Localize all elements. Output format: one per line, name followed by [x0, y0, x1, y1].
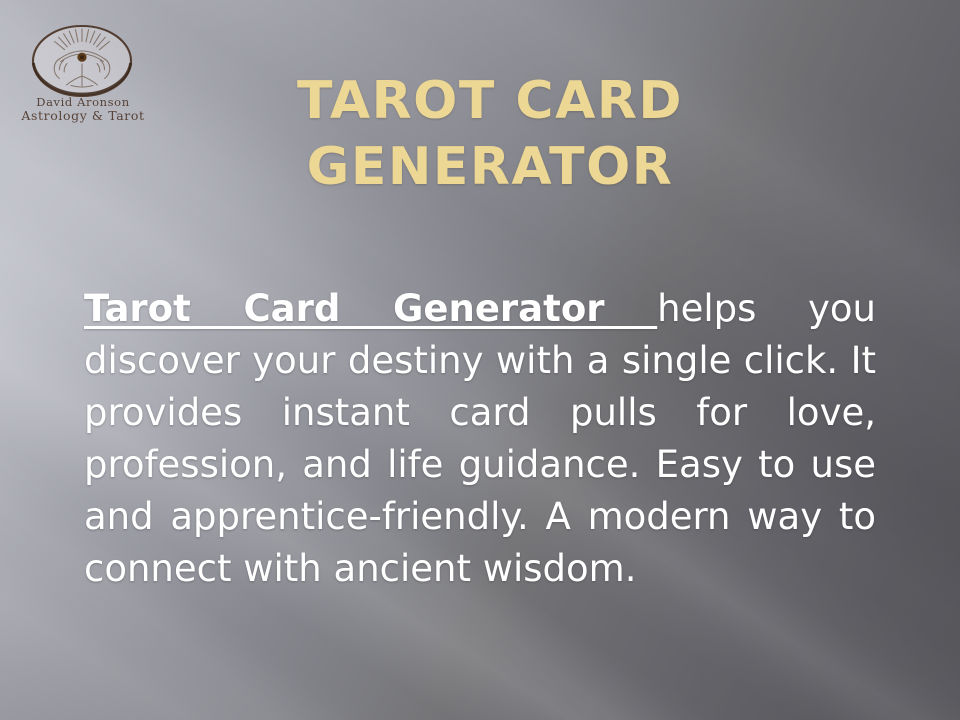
page-title-line-1: TAROT CARD: [175, 68, 805, 134]
brand-logo-wordmark: David Aronson Astrology & Tarot: [8, 96, 158, 124]
brand-tagline-line: Astrology & Tarot: [8, 109, 158, 123]
page-title-line-2: GENERATOR: [175, 134, 805, 200]
slide-canvas: David Aronson Astrology & Tarot TAROT CA…: [0, 0, 960, 720]
brand-logo: David Aronson Astrology & Tarot: [8, 22, 158, 134]
body-rest-text: helps you discover your destiny with a s…: [84, 287, 876, 590]
body-lead-term: Tarot Card Generator: [84, 287, 657, 330]
body-paragraph: Tarot Card Generator helps you discover …: [84, 283, 876, 595]
page-title: TAROT CARD GENERATOR: [175, 68, 805, 200]
sun-eye-emblem-icon: [30, 24, 134, 98]
